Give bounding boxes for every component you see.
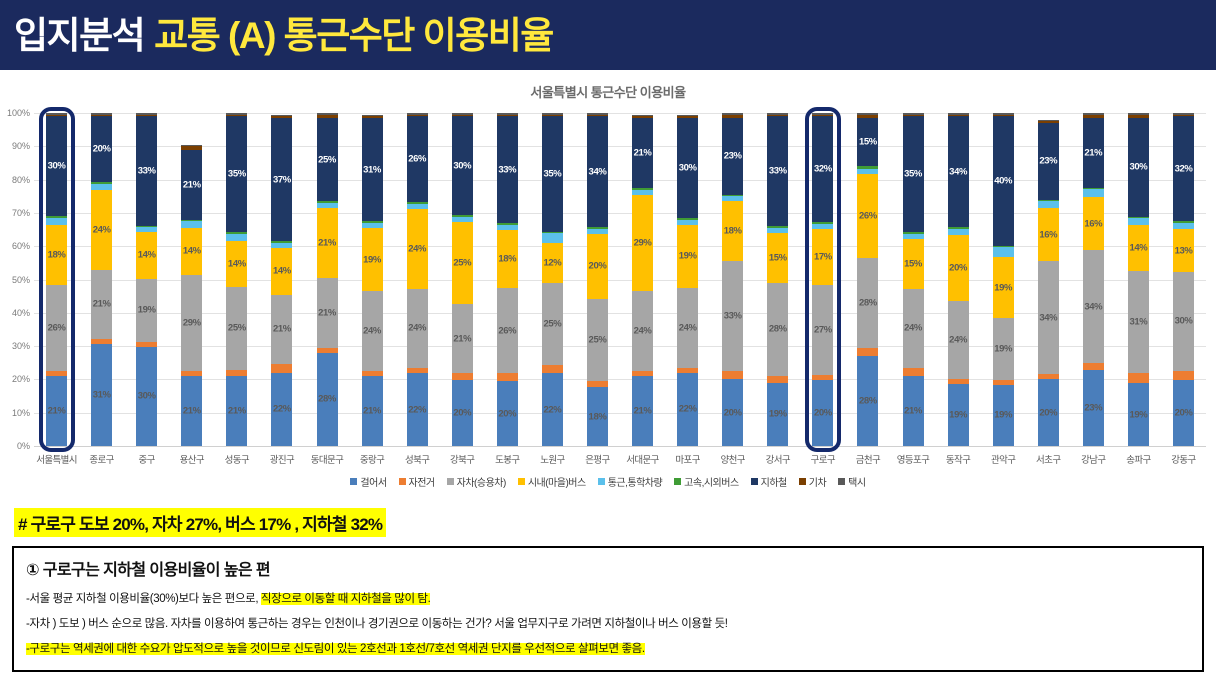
bar-segment-label: 31%	[1129, 317, 1147, 328]
y-axis-tick: 10%	[12, 408, 30, 418]
bar-segment: 15%	[857, 118, 878, 166]
bar-segment	[181, 146, 202, 149]
bar-segment	[677, 218, 698, 220]
bar-segment-label: 32%	[814, 164, 832, 175]
stacked-bar[interactable]: 20%26%18%33%	[497, 113, 518, 446]
bar-segment: 21%	[317, 278, 338, 348]
bar-segment: 37%	[271, 118, 292, 241]
bar-column[interactable]: 20%33%18%23%	[710, 113, 755, 446]
bar-segment-label: 25%	[228, 323, 246, 334]
bar-segment: 21%	[181, 150, 202, 220]
bar-segment	[271, 116, 292, 118]
bar-segment	[91, 339, 112, 344]
bar-segment: 32%	[1173, 116, 1194, 221]
stacked-bar[interactable]: 20%27%17%32%	[812, 113, 833, 446]
bar-column[interactable]: 19%28%15%33%	[755, 113, 800, 446]
bar-segment	[497, 115, 518, 117]
notes-line-1-plain: -서울 평균 지하철 이용비율(30%)보다 높은 편으로,	[26, 593, 261, 605]
bar-segment: 28%	[317, 353, 338, 446]
bar-segment-label: 16%	[1039, 229, 1057, 240]
stacked-bar[interactable]: 19%19%19%40%	[993, 113, 1014, 446]
stacked-bar[interactable]: 19%31%14%30%	[1128, 113, 1149, 446]
bar-segment	[226, 234, 247, 241]
legend-item[interactable]: 자전거	[399, 474, 435, 489]
bar-segment: 33%	[497, 116, 518, 223]
legend-label: 걸어서	[360, 474, 386, 489]
bar-segment-label: 30%	[453, 160, 471, 171]
bar-segment	[542, 115, 563, 117]
bar-segment	[271, 241, 292, 243]
bar-column[interactable]: 31%21%24%20%	[79, 113, 124, 446]
bar-segment-label: 35%	[904, 169, 922, 180]
bar-segment-label: 31%	[363, 164, 381, 175]
bar-segment	[271, 243, 292, 248]
notes-line-1: -서울 평균 지하철 이용비율(30%)보다 높은 편으로, 직장으로 이동할 …	[26, 590, 1192, 606]
bar-segment	[1083, 188, 1104, 190]
bar-segment	[452, 217, 473, 222]
bar-segment	[857, 115, 878, 118]
bar-segment	[91, 115, 112, 117]
bar-segment-label: 24%	[363, 326, 381, 337]
bar-segment	[1128, 115, 1149, 118]
bar-segment-label: 24%	[93, 225, 111, 236]
bar-segment	[181, 221, 202, 228]
bar-segment-label: 34%	[589, 166, 607, 177]
bar-segment: 23%	[1083, 370, 1104, 446]
bar-segment: 21%	[91, 270, 112, 339]
bar-segment-label: 19%	[679, 251, 697, 262]
bar-segment	[362, 116, 383, 118]
bar-segment-label: 23%	[1039, 156, 1057, 167]
bar-segment	[993, 115, 1014, 117]
stacked-bar[interactable]: 20%30%13%32%	[1173, 113, 1194, 446]
stacked-bar[interactable]: 22%24%24%26%	[407, 113, 428, 446]
bar-segment	[993, 380, 1014, 385]
stacked-bar[interactable]: 23%34%16%21%	[1083, 113, 1104, 446]
stacked-bar[interactable]: 21%24%19%31%	[362, 113, 383, 446]
bar-segment: 28%	[857, 356, 878, 446]
bar-segment-label: 29%	[634, 237, 652, 248]
bar-segment	[542, 233, 563, 243]
legend-item[interactable]: 지하철	[751, 474, 787, 489]
bar-segment	[948, 379, 969, 384]
bar-segment: 30%	[136, 347, 157, 446]
bar-segment: 13%	[1173, 229, 1194, 272]
bar-segment	[542, 365, 563, 373]
bar-segment	[1173, 223, 1194, 230]
bar-segment	[1038, 201, 1059, 208]
bar-segment-label: 21%	[318, 307, 336, 318]
y-axis-tick: 90%	[12, 141, 30, 151]
bar-segment-label: 24%	[634, 326, 652, 337]
bar-segment	[767, 226, 788, 228]
bar-segment	[767, 228, 788, 233]
bar-segment	[407, 113, 428, 115]
bar-segment-label: 19%	[769, 409, 787, 420]
bar-segment-label: 15%	[769, 252, 787, 263]
bar-segment: 25%	[452, 222, 473, 304]
bar-segment-label: 30%	[1175, 316, 1193, 327]
bar-segment-label: 21%	[183, 406, 201, 417]
bar-segment	[226, 115, 247, 117]
stacked-bar[interactable]: 21%24%29%21%	[632, 113, 653, 446]
legend-label: 지하철	[761, 474, 787, 489]
bar-column[interactable]: 21%24%15%35%	[890, 113, 935, 446]
bar-segment-label: 13%	[1175, 245, 1193, 256]
bar-segment: 26%	[46, 285, 67, 372]
bar-segment-label: 14%	[228, 258, 246, 269]
bar-segment: 18%	[587, 387, 608, 446]
stacked-bar[interactable]: 30%19%14%33%	[136, 113, 157, 446]
bar-segment-label: 25%	[318, 154, 336, 165]
bar-segment-label: 20%	[498, 408, 516, 419]
bar-column[interactable]: 20%34%16%23%	[1026, 113, 1071, 446]
bar-segment-label: 34%	[1084, 301, 1102, 312]
bar-column[interactable]: 21%29%14%21%	[169, 113, 214, 446]
bar-column[interactable]: 20%30%13%32%	[1161, 113, 1206, 446]
bar-column[interactable]: 21%25%14%35%	[214, 113, 259, 446]
bar-segment-label: 19%	[1129, 409, 1147, 420]
bar-segment-label: 35%	[228, 169, 246, 180]
bar-segment: 24%	[362, 291, 383, 371]
legend-item[interactable]: 택시	[838, 474, 865, 489]
bar-segment-label: 19%	[138, 305, 156, 316]
bar-segment: 19%	[767, 383, 788, 446]
bar-column[interactable]: 20%21%25%30%	[440, 113, 485, 446]
bar-column[interactable]: 28%28%26%15%	[845, 113, 890, 446]
bar-segment-label: 20%	[1175, 408, 1193, 419]
bar-segment: 31%	[91, 344, 112, 446]
stacked-bar[interactable]: 22%21%14%37%	[271, 113, 292, 446]
bar-column[interactable]: 30%19%14%33%	[124, 113, 169, 446]
bar-segment	[1128, 373, 1149, 383]
bar-segment-label: 21%	[453, 333, 471, 344]
bar-segment	[181, 220, 202, 222]
stacked-bar[interactable]: 21%25%14%35%	[226, 113, 247, 446]
bar-segment	[542, 232, 563, 234]
stacked-bar[interactable]: 22%24%19%30%	[677, 113, 698, 446]
bar-segment	[812, 115, 833, 117]
bar-segment-label: 18%	[724, 226, 742, 237]
bar-segment-label: 23%	[1084, 402, 1102, 413]
bar-segment-label: 23%	[724, 151, 742, 162]
bar-segment	[587, 227, 608, 229]
legend-item[interactable]: 걸어서	[350, 474, 386, 489]
bar-segment-label: 22%	[273, 404, 291, 415]
bar-segment-label: 27%	[814, 325, 832, 336]
bar-column[interactable]: 18%25%20%34%	[575, 113, 620, 446]
bar-segment	[993, 113, 1014, 115]
bar-segment: 19%	[948, 384, 969, 446]
bar-segment	[993, 246, 1014, 248]
bar-column[interactable]: 19%19%19%40%	[981, 113, 1026, 446]
bar-segment: 26%	[497, 288, 518, 372]
bar-segment: 21%	[46, 376, 67, 446]
legend-item[interactable]: 기차	[799, 474, 826, 489]
bar-segment-label: 18%	[498, 254, 516, 265]
legend-label: 시내(마을)버스	[528, 474, 586, 489]
bar-segment-label: 24%	[679, 322, 697, 333]
bar-segment: 28%	[857, 258, 878, 348]
bar-segment: 26%	[857, 174, 878, 258]
bar-segment	[407, 115, 428, 117]
bar-segment-label: 26%	[48, 322, 66, 333]
bar-segment: 20%	[812, 380, 833, 446]
stacked-bar[interactable]: 28%28%26%15%	[857, 113, 878, 446]
stacked-bar[interactable]: 21%29%14%21%	[181, 113, 202, 446]
stacked-bar[interactable]: 20%34%16%23%	[1038, 113, 1059, 446]
bar-segment: 29%	[181, 275, 202, 372]
bar-segment: 30%	[452, 116, 473, 215]
bar-segment	[407, 368, 428, 373]
bar-segment	[46, 216, 67, 218]
bar-column[interactable]: 21%24%29%21%	[620, 113, 665, 446]
bar-segment	[226, 370, 247, 377]
stacked-bar[interactable]: 22%25%12%35%	[542, 113, 563, 446]
bar-segment: 28%	[767, 283, 788, 376]
bar-segment: 35%	[903, 116, 924, 232]
bar-segment-label: 20%	[93, 144, 111, 155]
legend-swatch-icon	[399, 478, 406, 485]
bar-segment-label: 32%	[1175, 163, 1193, 174]
stacked-bar[interactable]: 20%21%25%30%	[452, 113, 473, 446]
bar-segment	[857, 169, 878, 174]
bar-column[interactable]: 19%31%14%30%	[1116, 113, 1161, 446]
stacked-bar[interactable]: 31%21%24%20%	[91, 113, 112, 446]
bar-segment	[948, 115, 969, 117]
bar-column[interactable]: 23%34%16%21%	[1071, 113, 1116, 446]
bar-segment-label: 20%	[724, 407, 742, 418]
bar-segment: 30%	[1173, 272, 1194, 370]
bar-segment	[722, 196, 743, 201]
bar-segment	[452, 215, 473, 217]
bar-segment: 21%	[317, 208, 338, 278]
bar-segment	[317, 348, 338, 353]
bar-segment: 24%	[407, 289, 428, 369]
bar-segment	[677, 115, 698, 117]
bar-segment: 32%	[812, 116, 833, 222]
stacked-bar[interactable]: 28%21%21%25%	[317, 113, 338, 446]
notes-heading: ① 구로구는 지하철 이용비율이 높은 편	[26, 556, 1192, 580]
bar-segment-label: 26%	[498, 325, 516, 336]
bar-segment-label: 28%	[769, 324, 787, 335]
notes-line-2: -자차 ) 도보 ) 버스 순으로 많음. 자차를 이용하여 통근하는 경우는 …	[26, 615, 1192, 631]
bar-segment: 25%	[587, 299, 608, 381]
bar-segment	[497, 373, 518, 381]
bar-segment: 33%	[136, 116, 157, 225]
bar-segment-label: 34%	[949, 166, 967, 177]
legend-label: 고속,시외버스	[684, 474, 738, 489]
bar-segment: 34%	[587, 116, 608, 227]
bar-segment: 20%	[1173, 380, 1194, 446]
bar-segment	[903, 232, 924, 234]
bar-segment-label: 22%	[679, 404, 697, 415]
bar-segment-label: 26%	[408, 154, 426, 165]
bar-segment: 31%	[1128, 271, 1149, 373]
bar-segment: 23%	[722, 118, 743, 195]
bar-segment	[1038, 374, 1059, 379]
bar-column[interactable]: 22%25%12%35%	[530, 113, 575, 446]
stacked-bar[interactable]: 18%25%20%34%	[587, 113, 608, 446]
bar-segment	[91, 184, 112, 191]
bar-segment: 20%	[497, 381, 518, 446]
bar-segment-label: 21%	[634, 148, 652, 159]
bar-segment: 35%	[542, 116, 563, 231]
bar-segment-label: 30%	[138, 391, 156, 402]
bar-column[interactable]: 22%21%14%37%	[259, 113, 304, 446]
bar-segment: 16%	[1083, 197, 1104, 250]
legend-item[interactable]: 통근,통학차량	[598, 474, 662, 489]
bar-segment	[452, 113, 473, 115]
bar-segment-label: 20%	[949, 263, 967, 274]
bar-segment: 12%	[542, 243, 563, 283]
bar-segment: 25%	[226, 287, 247, 370]
bar-segment	[317, 201, 338, 203]
legend-item[interactable]: 시내(마을)버스	[518, 474, 586, 489]
bar-segment	[407, 202, 428, 204]
bar-segment: 18%	[722, 201, 743, 261]
bar-segment: 14%	[181, 228, 202, 275]
bar-segment	[632, 190, 653, 195]
notes-box: ① 구로구는 지하철 이용비율이 높은 편 -서울 평균 지하철 이용비율(30…	[12, 546, 1204, 672]
bar-segment-label: 20%	[814, 407, 832, 418]
bar-segment	[587, 381, 608, 388]
bar-segment: 30%	[677, 118, 698, 218]
bar-segment	[46, 113, 67, 115]
bar-segment-label: 21%	[904, 406, 922, 417]
gridline	[34, 446, 1206, 447]
bar-segment	[722, 113, 743, 115]
bar-segment	[677, 220, 698, 225]
stacked-bar[interactable]: 21%24%15%35%	[903, 113, 924, 446]
bar-segment	[362, 115, 383, 117]
summary-callout: # 구로구 도보 20%, 자차 27%, 버스 17% , 지하철 32%	[14, 508, 386, 537]
bar-segment	[271, 364, 292, 372]
y-axis-tick: 100%	[7, 108, 30, 118]
bar-segment-label: 30%	[1129, 162, 1147, 173]
stacked-bar[interactable]: 21%26%18%30%	[46, 113, 67, 446]
bar-segment-label: 25%	[453, 257, 471, 268]
bar-segment: 24%	[407, 209, 428, 289]
bar-segment: 22%	[407, 373, 428, 446]
notes-line-3: -구로구는 역세권에 대한 수요가 압도적으로 높을 것이므로 신도림이 있는 …	[26, 640, 1192, 656]
bar-segment-label: 21%	[273, 324, 291, 335]
bar-column[interactable]: 21%26%18%30%	[34, 113, 79, 446]
bar-segment: 19%	[677, 225, 698, 288]
bar-segment	[677, 368, 698, 373]
bar-segment	[1128, 218, 1149, 225]
bar-segment: 19%	[993, 257, 1014, 318]
bar-segment: 40%	[993, 116, 1014, 245]
bar-segment: 20%	[452, 380, 473, 446]
bar-column[interactable]: 22%24%19%30%	[665, 113, 710, 446]
bar-segment-label: 19%	[994, 344, 1012, 355]
bar-segment: 14%	[271, 248, 292, 295]
bar-segment	[812, 222, 833, 224]
chart-title: 서울특별시 통근수단 이용비율	[0, 70, 1216, 101]
bar-segment: 21%	[632, 376, 653, 446]
legend-label: 기차	[809, 474, 826, 489]
legend-item[interactable]: 자차(승용차)	[447, 474, 506, 489]
bar-segment	[136, 342, 157, 347]
bar-column[interactable]: 22%24%24%26%	[395, 113, 440, 446]
bar-segment: 27%	[812, 285, 833, 374]
page-title-bar: 입지분석 교통 (A) 통근수단 이용비율	[0, 0, 1216, 70]
bar-segment	[1038, 120, 1059, 122]
page-title-primary: 입지분석	[14, 17, 144, 54]
bar-segment	[903, 113, 924, 115]
bar-segment: 29%	[632, 195, 653, 292]
bar-segment: 31%	[362, 118, 383, 221]
bar-segment-label: 37%	[273, 174, 291, 185]
bar-segment	[857, 113, 878, 115]
bar-segment	[317, 203, 338, 208]
bar-segment	[1173, 371, 1194, 381]
bar-segment	[317, 115, 338, 118]
page-title-secondary: 교통 (A) 통근수단 이용비율	[154, 17, 553, 54]
bar-segment	[317, 113, 338, 115]
bar-column[interactable]: 20%26%18%33%	[485, 113, 530, 446]
bar-segment	[46, 218, 67, 225]
y-axis-tick: 0%	[17, 441, 30, 451]
stacked-bar[interactable]: 19%24%20%34%	[948, 113, 969, 446]
bar-segment: 21%	[362, 376, 383, 446]
bar-segment-label: 21%	[48, 406, 66, 417]
bar-segment: 14%	[1128, 225, 1149, 271]
bar-segment	[903, 234, 924, 239]
bar-segment	[1083, 115, 1104, 118]
bar-segment: 34%	[948, 116, 969, 227]
stacked-bar[interactable]: 19%28%15%33%	[767, 113, 788, 446]
bar-segment-label: 22%	[408, 404, 426, 415]
bar-segment-label: 34%	[1039, 312, 1057, 323]
bar-column[interactable]: 20%27%17%32%	[800, 113, 845, 446]
bar-segment-label: 22%	[543, 404, 561, 415]
bar-segment: 15%	[903, 239, 924, 289]
bar-segment	[722, 371, 743, 379]
bar-segment: 20%	[722, 379, 743, 446]
bar-segment-label: 21%	[1084, 147, 1102, 158]
bar-segment	[407, 204, 428, 209]
bar-segment: 19%	[362, 228, 383, 291]
legend-swatch-icon	[799, 478, 806, 485]
bar-segment-label: 19%	[994, 410, 1012, 421]
bar-column[interactable]: 19%24%20%34%	[936, 113, 981, 446]
notes-line-3-highlight: -구로구는 역세권에 대한 수요가 압도적으로 높을 것이므로 신도림이 있는 …	[26, 643, 645, 655]
bar-segment	[632, 188, 653, 190]
bar-segment-label: 21%	[228, 406, 246, 417]
bar-segment-label: 30%	[679, 163, 697, 174]
legend-item[interactable]: 고속,시외버스	[674, 474, 738, 489]
bar-column[interactable]: 28%21%21%25%	[304, 113, 349, 446]
bar-segment-label: 19%	[949, 409, 967, 420]
bar-segment: 22%	[542, 373, 563, 446]
bar-segment	[632, 116, 653, 118]
bar-column[interactable]: 21%24%19%31%	[350, 113, 395, 446]
bar-segment: 22%	[677, 373, 698, 446]
y-axis-tick: 40%	[12, 308, 30, 318]
bar-segment-label: 19%	[363, 254, 381, 265]
stacked-bar[interactable]: 20%33%18%23%	[722, 113, 743, 446]
bar-segment: 33%	[722, 261, 743, 371]
bar-segment-label: 17%	[814, 252, 832, 263]
bar-segment-label: 21%	[183, 179, 201, 190]
bar-segment-label: 31%	[93, 389, 111, 400]
bar-segment	[362, 221, 383, 223]
bar-segment	[362, 371, 383, 376]
bar-segment: 14%	[136, 232, 157, 278]
bar-segment	[1038, 200, 1059, 202]
